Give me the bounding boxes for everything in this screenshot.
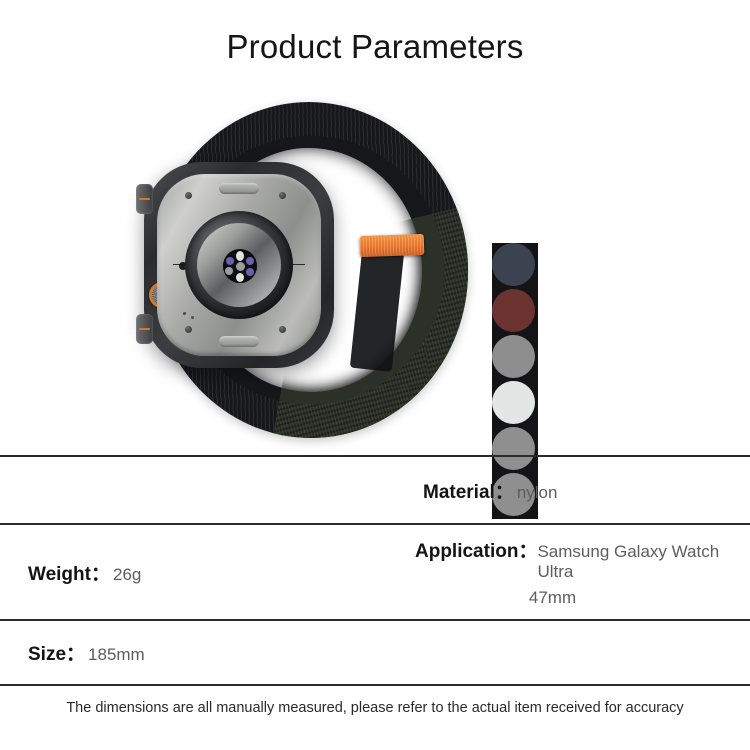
- side-button-accent-stripe-2: [139, 328, 150, 330]
- sensor-led-purple-right: [246, 257, 254, 265]
- page-title: Product Parameters: [0, 28, 750, 66]
- health-sensor-disc: [185, 211, 293, 319]
- sensor-led-purple-lower-right: [246, 268, 254, 276]
- sensor-led-gray-lower-left: [225, 267, 233, 275]
- case-marking-dot-2: [191, 316, 194, 319]
- case-screw-top-right: [279, 192, 286, 199]
- product-image-smartwatch: [128, 100, 468, 440]
- orange-pull-tab: [360, 234, 425, 257]
- spec-cell-application: Application： Samsung Galaxy Watch Ultra …: [415, 536, 750, 608]
- watch-case-back-plate: [157, 174, 321, 356]
- side-button-top: [136, 184, 153, 214]
- color-swatch-dark-red[interactable]: [492, 335, 535, 378]
- case-screw-top-left: [185, 192, 192, 199]
- color-swatch-navy-slate[interactable]: [492, 289, 535, 332]
- color-swatch-black[interactable]: [492, 243, 535, 286]
- spec-value-weight: 26g: [113, 565, 141, 585]
- spec-label-material: Material：: [423, 477, 514, 504]
- specifications-table: Material： nylon Weight： 26g Application：…: [0, 455, 750, 686]
- spec-value-application-line2: 47mm: [415, 588, 750, 608]
- spec-value-application-line1: Samsung Galaxy Watch Ultra: [537, 542, 750, 582]
- sensor-led-purple-left: [226, 257, 234, 265]
- spec-cell-weight: Weight： 26g: [0, 559, 415, 586]
- case-screw-bottom-right: [279, 326, 286, 333]
- spec-row-weight-application: Weight： 26g Application： Samsung Galaxy …: [0, 525, 750, 619]
- case-screw-bottom-left: [185, 326, 192, 333]
- spec-label-weight: Weight：: [28, 559, 110, 586]
- sensor-led-center: [236, 262, 245, 271]
- spec-value-material: nylon: [517, 483, 558, 503]
- side-button-bottom: [136, 314, 153, 344]
- product-hero-section: [0, 95, 750, 450]
- side-button-accent-stripe: [139, 198, 150, 200]
- measurement-disclaimer: The dimensions are all manually measured…: [0, 700, 750, 716]
- spec-label-size: Size：: [28, 639, 85, 666]
- spec-cell-size: Size： 185mm: [0, 639, 415, 666]
- watch-case: [144, 162, 334, 368]
- spec-row-size: Size： 185mm: [0, 621, 750, 684]
- color-swatch-gray[interactable]: [492, 381, 535, 424]
- lug-slot-bottom: [219, 336, 259, 347]
- spec-label-application: Application：: [415, 536, 537, 563]
- sensor-glass-dome: [197, 223, 281, 307]
- case-marking-dot-1: [183, 312, 186, 315]
- spec-row-material: Material： nylon: [0, 457, 750, 523]
- sensor-led-cluster: [223, 249, 257, 283]
- spec-value-size: 185mm: [88, 645, 145, 665]
- lug-slot-top: [219, 183, 259, 194]
- sensor-led-white-bottom: [236, 273, 244, 282]
- sensor-led-white-top: [236, 251, 244, 261]
- table-divider-bottom: [0, 684, 750, 686]
- spec-cell-material: Material： nylon: [423, 477, 557, 504]
